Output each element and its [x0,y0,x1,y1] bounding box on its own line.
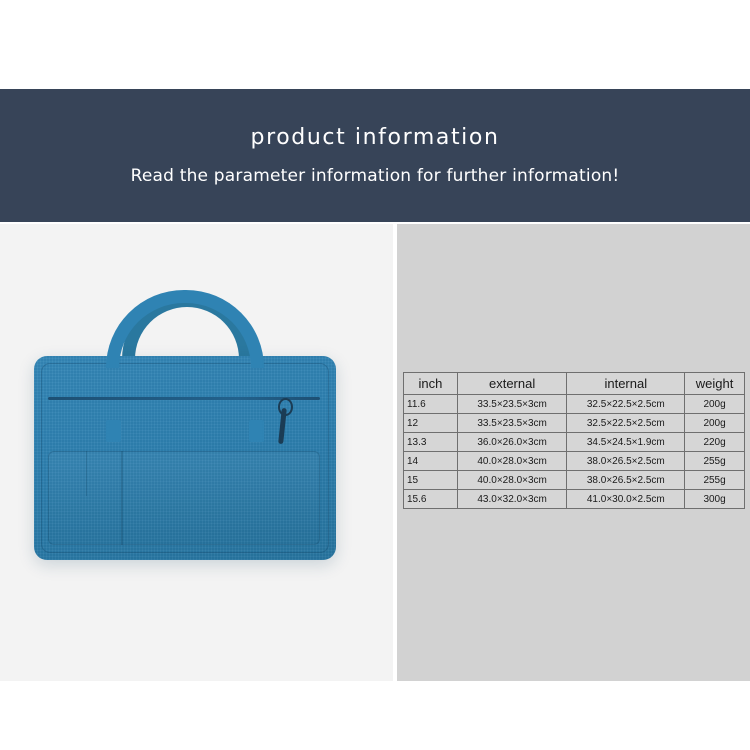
cell-inch: 13.3 [404,433,458,452]
banner-content: product information Read the parameter i… [0,89,750,222]
column-header-internal: internal [567,373,685,395]
cell-external: 36.0×26.0×3cm [457,433,567,452]
cell-internal: 32.5×22.5×2.5cm [567,395,685,414]
table-row: 15.6 43.0×32.0×3cm 41.0×30.0×2.5cm 300g [404,490,745,509]
cell-weight: 300g [685,490,745,509]
bag-handle-front-strap [106,290,264,368]
bag-pocket-divider-small [86,451,87,496]
cell-internal: 32.5×22.5×2.5cm [567,414,685,433]
bag-handles [106,290,264,368]
cell-weight: 255g [685,452,745,471]
table-row: 12 33.5×23.5×3cm 32.5×22.5×2.5cm 200g [404,414,745,433]
product-image-panel [0,224,393,681]
cell-weight: 255g [685,471,745,490]
cell-external: 33.5×23.5×3cm [457,414,567,433]
product-information-banner: product information Read the parameter i… [0,89,750,222]
column-header-external: external [457,373,567,395]
cell-weight: 220g [685,433,745,452]
cell-external: 40.0×28.0×3cm [457,471,567,490]
column-header-weight: weight [685,373,745,395]
cell-inch: 15.6 [404,490,458,509]
cell-inch: 11.6 [404,395,458,414]
cell-internal: 38.0×26.5×2.5cm [567,452,685,471]
cell-inch: 14 [404,452,458,471]
cell-internal: 41.0×30.0×2.5cm [567,490,685,509]
cell-weight: 200g [685,395,745,414]
cell-internal: 38.0×26.5×2.5cm [567,471,685,490]
bag-front-pocket-left [48,451,122,545]
table-row: 11.6 33.5×23.5×3cm 32.5×22.5×2.5cm 200g [404,395,745,414]
zipper-pull-icon [280,398,286,444]
cell-inch: 15 [404,471,458,490]
banner-subtitle: Read the parameter information for furth… [131,166,620,186]
table-header-row: inch external internal weight [404,373,745,395]
banner-title: product information [251,125,500,151]
cell-external: 43.0×32.0×3cm [457,490,567,509]
column-header-inch: inch [404,373,458,395]
laptop-bag-illustration [34,356,336,560]
table-row: 13.3 36.0×26.0×3cm 34.5×24.5×1.9cm 220g [404,433,745,452]
cell-weight: 200g [685,414,745,433]
table-row: 14 40.0×28.0×3cm 38.0×26.5×2.5cm 255g [404,452,745,471]
cell-external: 40.0×28.0×3cm [457,452,567,471]
bag-pocket-divider-main [122,451,123,545]
cell-inch: 12 [404,414,458,433]
table-row: 15 40.0×28.0×3cm 38.0×26.5×2.5cm 255g [404,471,745,490]
cell-internal: 34.5×24.5×1.9cm [567,433,685,452]
product-photo [0,224,393,681]
cell-external: 33.5×23.5×3cm [457,395,567,414]
bag-handle-anchor-left [106,420,121,442]
bag-handle-anchor-right [249,420,264,442]
specification-table: inch external internal weight 11.6 33.5×… [403,372,745,509]
